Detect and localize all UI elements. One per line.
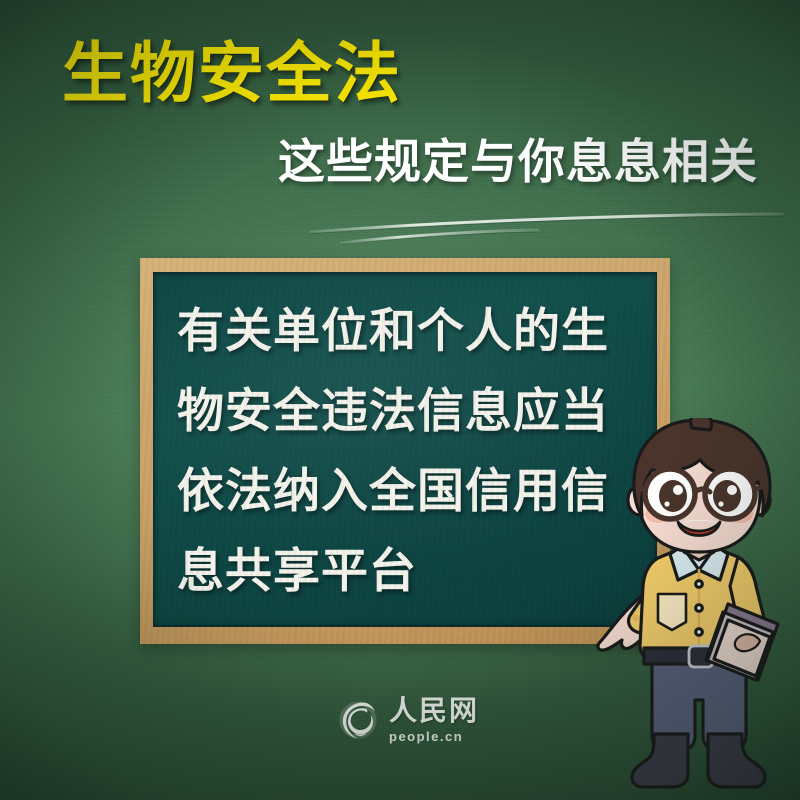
cowlick [691, 418, 712, 430]
people-cn-globe-icon [337, 700, 379, 742]
shirt-button [696, 629, 703, 636]
logo-wordmark: 人民网 people.cn [389, 698, 479, 743]
shoe-right [708, 734, 765, 787]
logo-name-cn: 人民网 [389, 698, 479, 726]
poster-canvas: 生物安全法 这些规定与你息息相关 有关单位和个人的生物安全违法信息应当依法纳入全… [0, 0, 800, 800]
shirt-button [696, 581, 703, 588]
page-title: 生物安全法 [62, 42, 402, 108]
logo-name-en: people.cn [389, 730, 479, 743]
sleeve-button [632, 614, 639, 621]
blackboard-frame: 有关单位和个人的生物安全违法信息应当依法纳入全国信用信息共享平台 [140, 258, 670, 644]
schoolboy-illustration [596, 418, 800, 800]
shoe-left [632, 734, 688, 787]
blackboard-message: 有关单位和个人的生物安全违法信息应当依法纳入全国信用信息共享平台 [153, 272, 657, 612]
shirt-button [696, 605, 703, 612]
page-subtitle: 这些规定与你息息相关 [278, 140, 758, 187]
shirt-pocket [658, 594, 686, 630]
people-cn-logo[interactable]: 人民网 people.cn [337, 698, 479, 743]
blackboard-surface: 有关单位和个人的生物安全违法信息应当依法纳入全国信用信息共享平台 [153, 272, 657, 627]
